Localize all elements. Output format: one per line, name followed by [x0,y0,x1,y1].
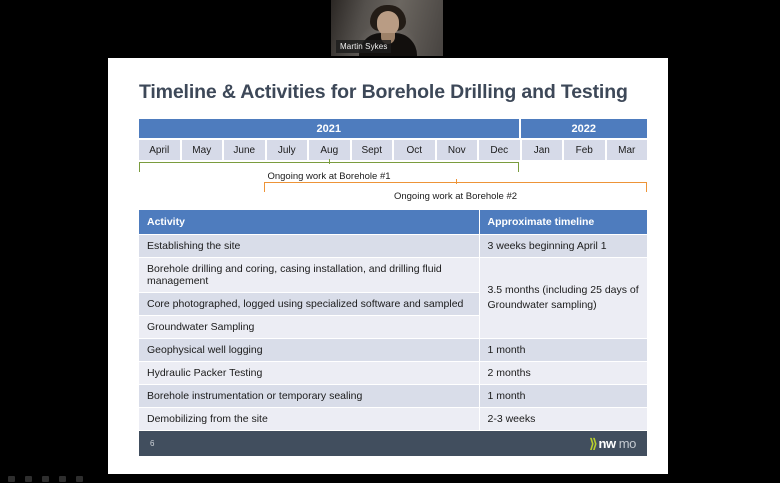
cell-activity: Demobilizing from the site [139,408,479,431]
cell-activity: Establishing the site [139,235,479,258]
table-row: Establishing the site 3 weeks beginning … [139,235,647,258]
month-cell-aug: Aug [309,140,352,160]
cell-timeline: 1 month [479,339,647,362]
cell-timeline: 1 month [479,385,647,408]
cell-activity: Geophysical well logging [139,339,479,362]
screen-share-view: Martin Sykes Timeline & Activities for B… [0,0,780,483]
nwmo-logo: ⟩⟩ nw mo [589,436,636,452]
bracket-tick-icon [329,159,330,164]
timeline-brackets: Ongoing work at Borehole #1 Ongoing work… [139,162,647,208]
timeline-header: 2021 2022 April May June July Aug Sept O… [139,119,647,160]
activities-table: Activity Approximate timeline Establishi… [139,210,647,431]
bottom-taskbar-strip [0,474,780,483]
table-row: Geophysical well logging 1 month [139,339,647,362]
month-cell-april: April [139,140,182,160]
column-header-activity: Activity [139,210,479,235]
month-cell-nov: Nov [437,140,480,160]
month-cell-dec: Dec [479,140,522,160]
table-row: Borehole drilling and coring, casing ins… [139,258,647,293]
taskbar-icon[interactable] [76,476,83,482]
table-header-row: Activity Approximate timeline [139,210,647,235]
webcam-tile[interactable]: Martin Sykes [331,0,443,56]
taskbar-icon-group [8,476,83,482]
month-cell-oct: Oct [394,140,437,160]
cell-activity: Hydraulic Packer Testing [139,362,479,385]
participant-name-label: Martin Sykes [336,40,391,53]
presentation-slide: Timeline & Activities for Borehole Drill… [108,58,668,483]
cell-timeline: 2-3 weeks [479,408,647,431]
month-cell-mar: Mar [607,140,648,160]
month-cell-feb: Feb [564,140,607,160]
table-row: Borehole instrumentation or temporary se… [139,385,647,408]
taskbar-icon[interactable] [8,476,15,482]
taskbar-icon[interactable] [59,476,66,482]
taskbar-icon[interactable] [42,476,49,482]
cell-activity: Borehole drilling and coring, casing ins… [139,258,479,293]
taskbar-icon[interactable] [25,476,32,482]
cell-activity: Core photographed, logged using speciali… [139,293,479,316]
cell-activity: Groundwater Sampling [139,316,479,339]
webcam-person-face [377,11,399,35]
bracket-label-borehole-1: Ongoing work at Borehole #1 [139,171,519,182]
table-row: Hydraulic Packer Testing 2 months [139,362,647,385]
slide-footer: 6 ⟩⟩ nw mo [139,431,647,456]
table-row: Demobilizing from the site 2-3 weeks [139,408,647,431]
month-cell-june: June [224,140,267,160]
logo-text-light: mo [619,436,636,451]
month-row: April May June July Aug Sept Oct Nov Dec… [139,140,647,160]
month-cell-sept: Sept [352,140,395,160]
year-cell-2022: 2022 [521,119,648,138]
bracket-tick-icon [456,179,457,184]
cell-timeline: 3 weeks beginning April 1 [479,235,647,258]
logo-text-bold: nw [598,436,615,451]
page-title: Timeline & Activities for Borehole Drill… [139,81,628,104]
cell-activity: Borehole instrumentation or temporary se… [139,385,479,408]
month-cell-jan: Jan [522,140,565,160]
cell-timeline-merged: 3.5 months (including 25 days of Groundw… [479,258,647,339]
year-cell-2021: 2021 [139,119,521,138]
year-row: 2021 2022 [139,119,647,138]
slide-number: 6 [150,439,154,448]
chevron-right-icon: ⟩⟩ [589,436,595,452]
column-header-timeline: Approximate timeline [479,210,647,235]
bracket-label-borehole-2: Ongoing work at Borehole #2 [264,191,647,202]
month-cell-july: July [267,140,310,160]
cell-timeline: 2 months [479,362,647,385]
month-cell-may: May [182,140,225,160]
